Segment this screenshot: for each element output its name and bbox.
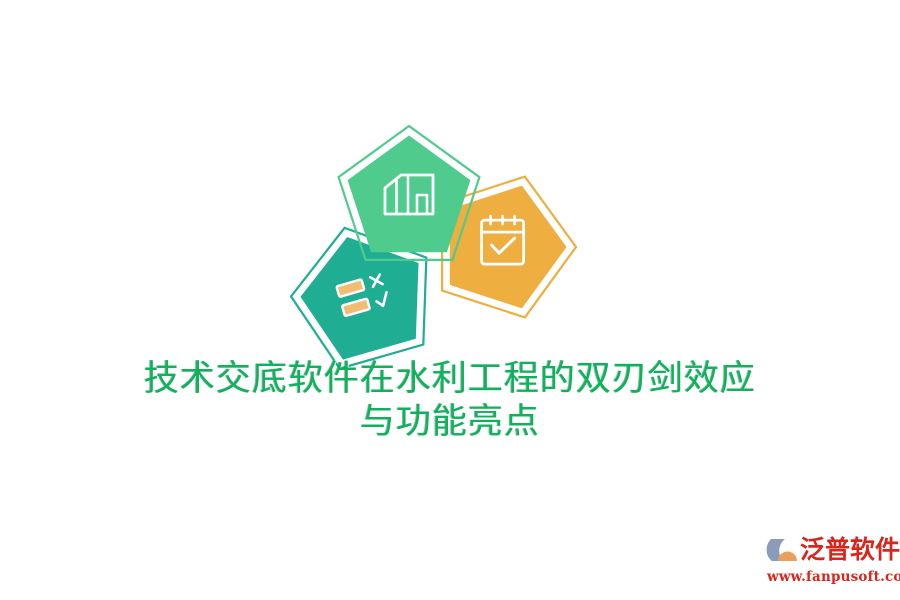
pentagon-building [339, 126, 480, 260]
fanpu-logo-icon [766, 535, 798, 565]
brand-url: www.fanpusoft.com [767, 569, 896, 585]
page-title-line-1: 技术交底软件在水利工程的双刃剑效应 [0, 358, 900, 401]
brand-watermark: 泛普软件 www.fanpusoft.com [766, 532, 896, 588]
pentagon-cluster-graphic [296, 124, 566, 346]
page-title: 技术交底软件在水利工程的双刃剑效应 与功能亮点 [0, 358, 900, 444]
page-canvas: 技术交底软件在水利工程的双刃剑效应 与功能亮点 泛普软件 www.fanpuso… [0, 0, 900, 600]
brand-name: 泛普软件 [800, 535, 900, 565]
brand-row: 泛普软件 [766, 532, 896, 568]
page-title-line-2: 与功能亮点 [0, 401, 900, 444]
